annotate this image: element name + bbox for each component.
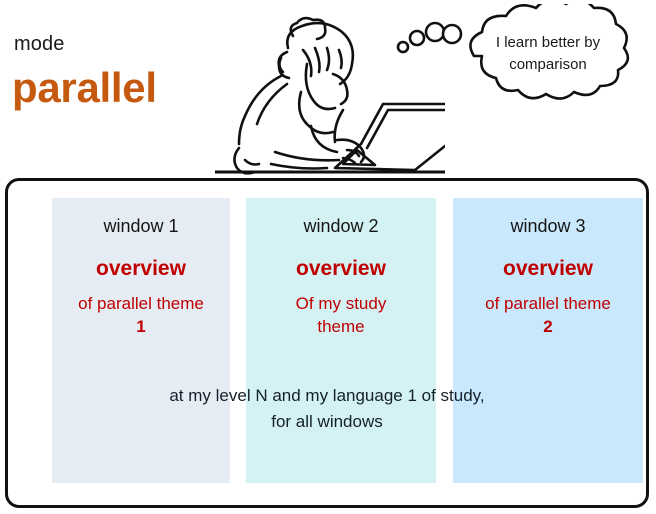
window-panel-2-label: window 2 xyxy=(246,216,436,237)
window-panel-3-label: window 3 xyxy=(453,216,643,237)
window-panel-2[interactable]: window 2 overview Of my study theme xyxy=(246,198,436,483)
window-panel-1-number: 1 xyxy=(52,315,230,338)
thought-bubble-text: I learn better by comparison xyxy=(458,32,638,76)
person-studying-at-laptop-icon xyxy=(215,0,445,178)
windows-frame: window 1 overview of parallel theme 1 wi… xyxy=(5,178,649,508)
header: mode parallel xyxy=(0,0,656,175)
mode-value: parallel xyxy=(12,64,157,112)
mode-label: mode xyxy=(14,33,64,56)
window-panel-1-heading: overview xyxy=(52,237,230,281)
window-panel-1-label: window 1 xyxy=(52,216,230,237)
window-panel-1-subtitle: of parallel theme 1 xyxy=(52,281,230,338)
window-panel-2-number: theme xyxy=(246,315,436,338)
window-panel-1[interactable]: window 1 overview of parallel theme 1 xyxy=(52,198,230,483)
window-panel-1-subtitle-text: of parallel theme xyxy=(78,294,204,313)
window-panel-3-subtitle: of parallel theme 2 xyxy=(453,281,643,338)
window-panel-3-heading: overview xyxy=(453,237,643,281)
window-panel-2-subtitle: Of my study theme xyxy=(246,281,436,338)
window-panel-3-number: 2 xyxy=(453,315,643,338)
window-panel-3-subtitle-text: of parallel theme xyxy=(485,294,611,313)
window-panel-2-subtitle-text: Of my study xyxy=(296,294,387,313)
window-panel-2-heading: overview xyxy=(246,237,436,281)
window-panel-3[interactable]: window 3 overview of parallel theme 2 xyxy=(453,198,643,483)
